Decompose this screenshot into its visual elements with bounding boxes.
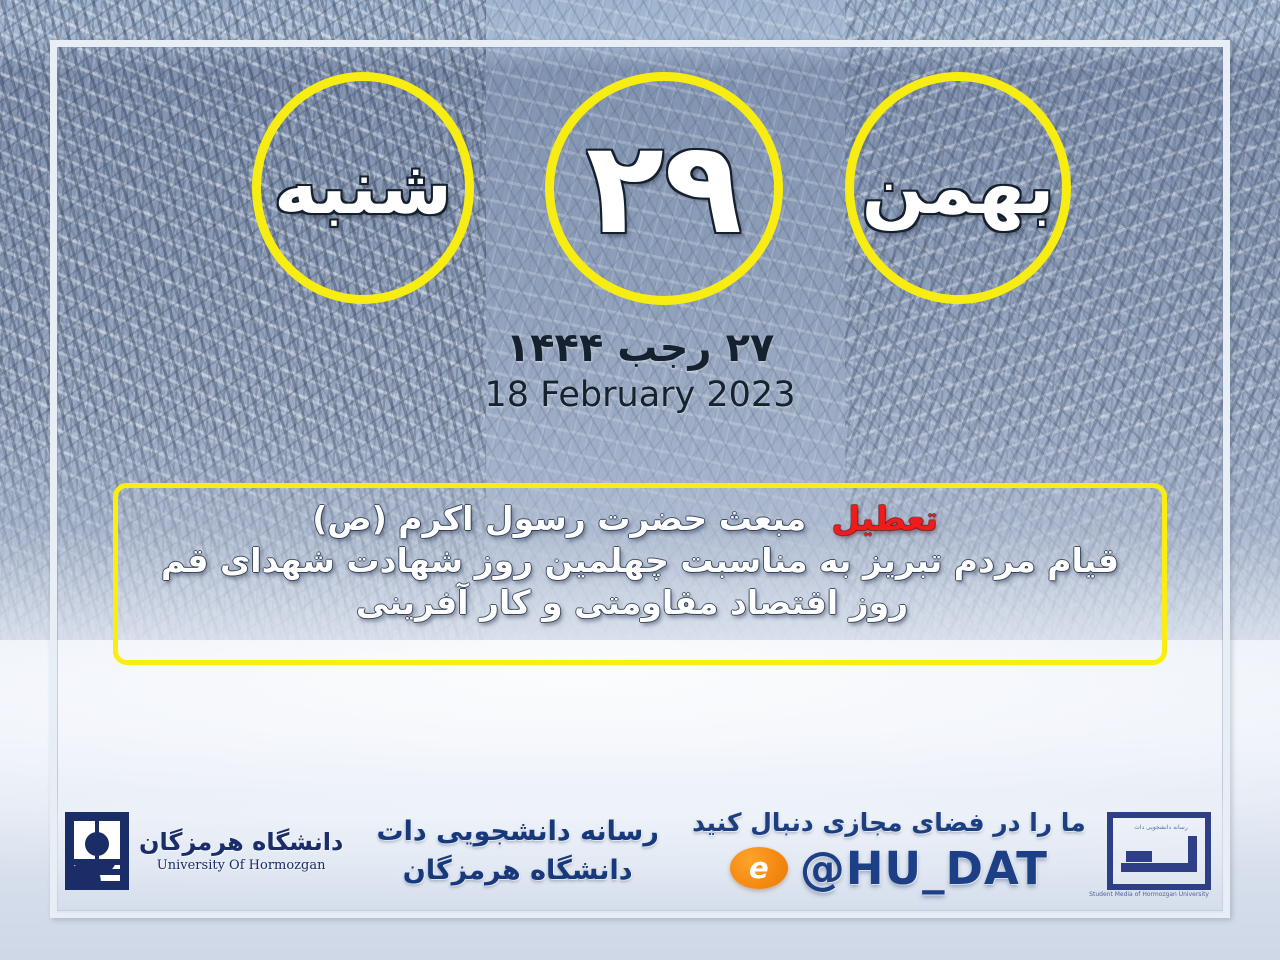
dat-logo-bottom-text: Student Media of Hormozgan University (1109, 891, 1209, 898)
dat-media-logo: رسانه دانشجویی دات Student Media of Horm… (1107, 812, 1211, 890)
hijri-date: ۲۷ رجب ۱۴۴۴ (0, 326, 1280, 370)
follow-us-text: ما را در فضای مجازی دنبال کنید (692, 808, 1086, 837)
secondary-dates: ۲۷ رجب ۱۴۴۴ 18 February 2023 (0, 326, 1280, 418)
gregorian-date: 18 February 2023 (0, 374, 1280, 418)
holiday-badge: تعطیل (832, 499, 938, 538)
event-line-1: تعطیل مبعث حضرت رسول اکرم (ص) (144, 498, 1136, 540)
university-name-en: University Of Hormozgan (139, 858, 343, 873)
event-line-3: روز اقتصاد مقاومتی و کار آفرینی (144, 582, 1136, 624)
media-name-block: رسانه دانشجویی دات دانشگاه هرمزگان (377, 812, 659, 890)
weekday-circle: شنبه (252, 72, 474, 304)
event-line-2: قیام مردم تبریز به مناسبت چهلمین روز شها… (144, 540, 1136, 582)
event-text-1: مبعث حضرت رسول اکرم (ص) (312, 499, 806, 538)
university-logo: دانشگاه هرمزگان University Of Hormozgan (65, 812, 343, 890)
day-number-label: ۲۹ (586, 125, 742, 253)
media-name-line-2: دانشگاه هرمزگان (377, 851, 659, 890)
footer-bar: رسانه دانشجویی دات Student Media of Horm… (57, 789, 1223, 913)
events-box: تعطیل مبعث حضرت رسول اکرم (ص) قیام مردم … (113, 483, 1167, 665)
eitaa-icon[interactable]: e (730, 847, 788, 889)
month-label: بهمن (862, 151, 1055, 225)
book-circle-emblem (85, 832, 109, 856)
follow-us-block: ما را در فضای مجازی دنبال کنید e @HU_DAT (692, 808, 1086, 895)
calendar-card: بهمن ۲۹ شنبه ۲۷ رجب ۱۴۴۴ 18 February 202… (0, 0, 1280, 960)
social-handle[interactable]: @HU_DAT (800, 842, 1048, 895)
dat-logo-top-text: رسانه دانشجویی دات (1127, 824, 1195, 833)
media-name-line-1: رسانه دانشجویی دات (377, 812, 659, 851)
dat-logo-dots-icon (1126, 851, 1152, 862)
day-number-circle: ۲۹ (545, 72, 783, 305)
month-circle: بهمن (845, 72, 1071, 304)
social-handle-row[interactable]: e @HU_DAT (692, 842, 1086, 895)
university-logo-text: دانشگاه هرمزگان University Of Hormozgan (139, 829, 343, 873)
weekday-label: شنبه (274, 151, 452, 225)
university-name-fa: دانشگاه هرمزگان (139, 829, 343, 855)
book-waves-icon (74, 859, 120, 881)
university-book-icon (65, 812, 129, 890)
date-circles: بهمن ۲۹ شنبه (0, 72, 1280, 304)
